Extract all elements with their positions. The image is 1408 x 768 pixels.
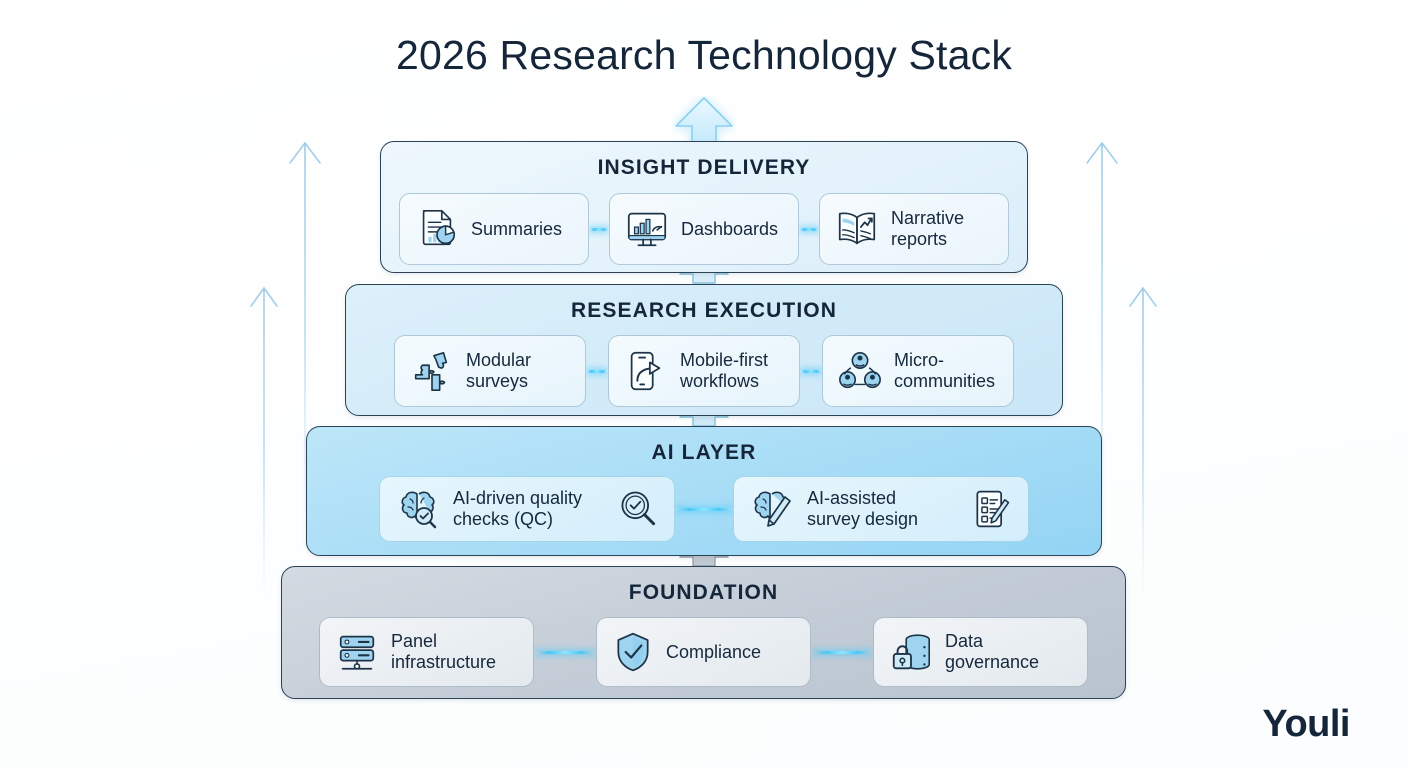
card-micro-communities[interactable]: Micro- communities bbox=[822, 335, 1014, 407]
brain-pencil-icon bbox=[748, 485, 796, 533]
layer-ai[interactable]: AI LAYER AI-driven quality checks (QC) bbox=[306, 426, 1102, 556]
card-label: Mobile-first workflows bbox=[680, 350, 768, 391]
card-panel-infrastructure[interactable]: Panel infrastructure bbox=[319, 617, 534, 687]
card-label: Modular surveys bbox=[466, 350, 531, 391]
layer-title-research-execution: RESEARCH EXECUTION bbox=[346, 299, 1062, 323]
card-label: Micro- communities bbox=[894, 350, 995, 391]
magnifier-check-icon bbox=[616, 487, 660, 531]
diagram-canvas: 2026 Research Technology Stack INSIGHT D… bbox=[0, 0, 1408, 768]
brain-magnifier-icon bbox=[394, 485, 442, 533]
people-network-icon bbox=[837, 348, 883, 394]
card-summaries[interactable]: Summaries bbox=[399, 193, 589, 265]
layer-title-foundation: FOUNDATION bbox=[282, 581, 1125, 605]
database-lock-icon bbox=[888, 629, 934, 675]
connector-mobile-micro bbox=[800, 370, 822, 373]
card-compliance[interactable]: Compliance bbox=[596, 617, 811, 687]
connector-modular-mobile bbox=[586, 370, 608, 373]
checklist-pen-icon bbox=[970, 487, 1014, 531]
card-row-insight-delivery: Summaries Dashboards bbox=[381, 193, 1027, 265]
card-label: Data governance bbox=[945, 631, 1039, 672]
shield-check-icon bbox=[611, 630, 655, 674]
layer-foundation[interactable]: FOUNDATION Panel infrastructure bbox=[281, 566, 1126, 699]
page-title: 2026 Research Technology Stack bbox=[0, 32, 1408, 79]
puzzle-pieces-icon bbox=[409, 348, 455, 394]
layer-title-ai: AI LAYER bbox=[307, 441, 1101, 465]
card-label: Dashboards bbox=[681, 219, 778, 240]
brand-logo: Youli bbox=[1262, 703, 1350, 746]
layer-research-execution[interactable]: RESEARCH EXECUTION Modular surveys bbox=[345, 284, 1063, 416]
document-pie-chart-icon bbox=[414, 206, 460, 252]
card-label: Summaries bbox=[471, 219, 562, 240]
card-row-ai: AI-driven quality checks (QC) bbox=[307, 476, 1101, 542]
open-book-icon bbox=[834, 206, 880, 252]
monitor-bar-chart-icon bbox=[624, 206, 670, 252]
connector-panel-compliance bbox=[534, 651, 596, 654]
card-mobile-first-workflows[interactable]: Mobile-first workflows bbox=[608, 335, 800, 407]
server-rack-icon bbox=[334, 629, 380, 675]
card-label: Panel infrastructure bbox=[391, 631, 496, 672]
card-label: AI-driven quality checks (QC) bbox=[453, 488, 582, 529]
layer-title-insight-delivery: INSIGHT DELIVERY bbox=[381, 156, 1027, 180]
card-label: Compliance bbox=[666, 642, 761, 663]
card-ai-driven-quality-checks[interactable]: AI-driven quality checks (QC) bbox=[379, 476, 675, 542]
card-row-research-execution: Modular surveys Mobile-first workflows bbox=[346, 335, 1062, 407]
connector-summaries-dashboards bbox=[589, 228, 609, 231]
connector-dashboards-narrative bbox=[799, 228, 819, 231]
card-data-governance[interactable]: Data governance bbox=[873, 617, 1088, 687]
connector-qc-survey-design bbox=[675, 508, 733, 511]
card-label: AI-assisted survey design bbox=[807, 488, 918, 529]
card-row-foundation: Panel infrastructure Compliance bbox=[282, 617, 1125, 687]
layer-insight-delivery[interactable]: INSIGHT DELIVERY Summaries bbox=[380, 141, 1028, 273]
card-dashboards[interactable]: Dashboards bbox=[609, 193, 799, 265]
mobile-arrow-icon bbox=[623, 348, 669, 394]
connector-compliance-governance bbox=[811, 651, 873, 654]
card-narrative-reports[interactable]: Narrative reports bbox=[819, 193, 1009, 265]
card-label: Narrative reports bbox=[891, 208, 964, 249]
card-modular-surveys[interactable]: Modular surveys bbox=[394, 335, 586, 407]
card-ai-assisted-survey-design[interactable]: AI-assisted survey design bbox=[733, 476, 1029, 542]
